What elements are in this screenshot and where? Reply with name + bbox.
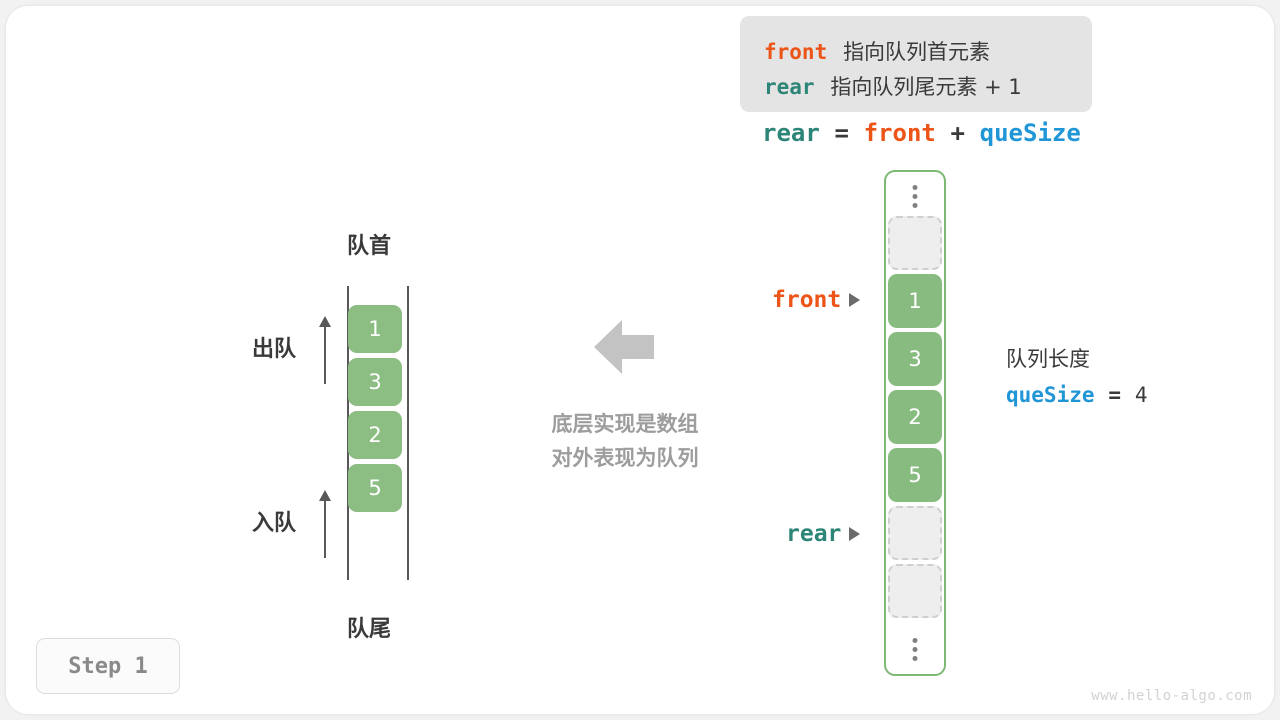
formula-quesize: queSize: [980, 119, 1081, 147]
queue-tail-label: 队尾: [347, 611, 391, 643]
quesize-equals: =: [1108, 383, 1121, 407]
formula-equals: =: [834, 119, 848, 147]
array-cell: 5: [888, 448, 942, 502]
array-container: 1 3 2 5: [884, 170, 946, 676]
pointer-triangle-icon: [849, 293, 860, 307]
quesize-note: 队列长度 queSize = 4: [1006, 341, 1148, 414]
legend-line-rear: rear 指向队列尾元素 + 1: [764, 71, 1022, 101]
front-pointer-text: front: [772, 287, 841, 313]
ellipsis-bottom-icon: [913, 638, 918, 661]
quesize-value: 4: [1135, 383, 1148, 407]
dequeue-arrow-icon: [318, 316, 332, 384]
quesize-note-title: 队列长度: [1006, 341, 1148, 377]
center-description: 底层实现是数组 对外表现为队列: [530, 407, 720, 475]
queue-item: 1: [348, 305, 402, 353]
array-cell: [888, 216, 942, 270]
diagram-canvas: front 指向队列首元素 rear 指向队列尾元素 + 1 rear = fr…: [0, 0, 1280, 720]
queue-item: 2: [348, 411, 402, 459]
legend-front-term: front: [764, 40, 827, 64]
rear-pointer-label: rear: [786, 521, 860, 547]
legend-front-text: 指向队列首元素: [843, 40, 990, 64]
step-badge: Step 1: [36, 638, 180, 694]
array-cell: 1: [888, 274, 942, 328]
pointer-legend-box: front 指向队列首元素 rear 指向队列尾元素 + 1: [740, 16, 1092, 112]
enqueue-label: 入队: [252, 505, 296, 537]
legend-line-front: front 指向队列首元素: [764, 36, 990, 66]
watermark: www.hello-algo.com: [1091, 688, 1252, 704]
center-description-line1: 底层实现是数组: [530, 407, 720, 441]
array-cell: 3: [888, 332, 942, 386]
quesize-note-value-line: queSize = 4: [1006, 377, 1148, 414]
formula-plus: +: [951, 119, 965, 147]
array-cell: [888, 506, 942, 560]
ellipsis-top-icon: [913, 185, 918, 208]
front-pointer-label: front: [772, 287, 860, 313]
dequeue-label: 出队: [252, 331, 296, 363]
transform-arrow-icon: [592, 318, 656, 381]
legend-rear-term: rear: [764, 75, 815, 99]
pointer-triangle-icon: [849, 527, 860, 541]
queue-rail-right: [407, 286, 409, 580]
array-cell: 2: [888, 390, 942, 444]
center-description-line2: 对外表现为队列: [530, 441, 720, 475]
array-cell: [888, 564, 942, 618]
formula-front: front: [864, 119, 936, 147]
legend-rear-text: 指向队列尾元素 + 1: [830, 75, 1021, 99]
queue-head-label: 队首: [347, 228, 391, 260]
rear-pointer-text: rear: [786, 521, 841, 547]
rear-formula: rear = front + queSize: [762, 119, 1081, 148]
queue-item: 5: [348, 464, 402, 512]
enqueue-arrow-icon: [318, 490, 332, 558]
formula-rear: rear: [762, 119, 820, 147]
quesize-var: queSize: [1006, 383, 1095, 407]
queue-item: 3: [348, 358, 402, 406]
